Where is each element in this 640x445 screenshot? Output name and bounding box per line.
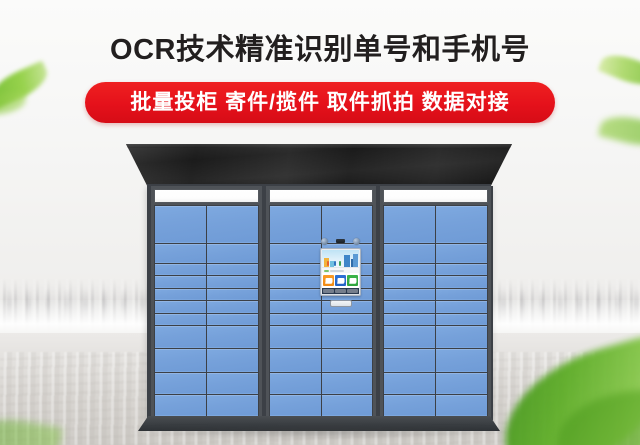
screen-tile-service[interactable] bbox=[347, 275, 358, 286]
footer-segment bbox=[347, 289, 358, 293]
locker-door[interactable] bbox=[270, 373, 321, 394]
locker-door[interactable] bbox=[384, 326, 435, 347]
locker-door[interactable] bbox=[384, 264, 435, 276]
screen-hero-illustration bbox=[322, 250, 359, 267]
footer-segment bbox=[323, 289, 334, 293]
locker-door[interactable] bbox=[384, 373, 435, 394]
cabinet-ground-shadow bbox=[128, 428, 512, 439]
locker-door[interactable] bbox=[384, 395, 435, 416]
parcel-locker-cabinet bbox=[0, 0, 640, 445]
section-header-strip-left bbox=[154, 189, 259, 203]
locker-door[interactable] bbox=[207, 264, 258, 276]
locker-door[interactable] bbox=[270, 314, 321, 326]
locker-door[interactable] bbox=[384, 276, 435, 288]
illustration-person-2 bbox=[334, 261, 336, 266]
locker-door[interactable] bbox=[155, 206, 206, 243]
locker-door[interactable] bbox=[322, 349, 373, 372]
status-indicator-icon bbox=[324, 270, 329, 272]
locker-door[interactable] bbox=[155, 301, 206, 313]
locker-door[interactable] bbox=[270, 349, 321, 372]
locker-door[interactable] bbox=[207, 244, 258, 263]
locker-door[interactable] bbox=[384, 289, 435, 301]
illustration-building-3 bbox=[344, 255, 350, 267]
locker-door[interactable] bbox=[384, 206, 435, 243]
illustration-building-5 bbox=[353, 254, 358, 267]
canopy-front-lip bbox=[126, 144, 512, 148]
illustration-person-3 bbox=[339, 261, 341, 266]
locker-door[interactable] bbox=[436, 206, 487, 243]
locker-door[interactable] bbox=[436, 301, 487, 313]
locker-door[interactable] bbox=[322, 314, 373, 326]
locker-door[interactable] bbox=[270, 289, 321, 301]
pickup-tile-label bbox=[337, 282, 344, 284]
screen-tile-deposit[interactable] bbox=[323, 275, 334, 286]
locker-door[interactable] bbox=[436, 276, 487, 288]
footer-segment bbox=[335, 289, 346, 293]
locker-door[interactable] bbox=[270, 206, 321, 243]
locker-door[interactable] bbox=[155, 349, 206, 372]
promo-scene: OCR技术精准识别单号和手机号 批量投柜 寄件/揽件 取件抓拍 数据对接 bbox=[0, 0, 640, 445]
locker-door[interactable] bbox=[207, 349, 258, 372]
screen-tile-pickup[interactable] bbox=[335, 275, 346, 286]
locker-door[interactable] bbox=[207, 373, 258, 394]
locker-door[interactable] bbox=[155, 264, 206, 276]
locker-door[interactable] bbox=[384, 301, 435, 313]
locker-door[interactable] bbox=[436, 314, 487, 326]
locker-door[interactable] bbox=[384, 349, 435, 372]
locker-door[interactable] bbox=[436, 395, 487, 416]
locker-door[interactable] bbox=[207, 289, 258, 301]
locker-door[interactable] bbox=[155, 314, 206, 326]
section-header-strip-middle bbox=[269, 189, 373, 203]
locker-door[interactable] bbox=[155, 373, 206, 394]
door-grid-right bbox=[383, 205, 488, 417]
locker-door[interactable] bbox=[436, 244, 487, 263]
locker-door[interactable] bbox=[155, 326, 206, 347]
locker-door[interactable] bbox=[155, 289, 206, 301]
cabinet-canopy bbox=[126, 144, 512, 186]
kiosk-terminal[interactable] bbox=[318, 237, 363, 311]
camera-lens-icon-right bbox=[353, 238, 360, 245]
locker-door[interactable] bbox=[384, 244, 435, 263]
locker-door[interactable] bbox=[384, 314, 435, 326]
card-scan-slot-icon[interactable] bbox=[330, 300, 352, 307]
locker-door[interactable] bbox=[436, 326, 487, 347]
section-header-strip-right bbox=[383, 189, 488, 203]
locker-door[interactable] bbox=[436, 349, 487, 372]
locker-door[interactable] bbox=[207, 314, 258, 326]
locker-door[interactable] bbox=[207, 301, 258, 313]
ir-sensor-icon bbox=[336, 239, 345, 243]
locker-door[interactable] bbox=[155, 395, 206, 416]
locker-door[interactable] bbox=[322, 395, 373, 416]
screen-footer-bar bbox=[322, 288, 359, 294]
locker-section-right bbox=[378, 186, 493, 420]
kiosk-screen-frame[interactable] bbox=[320, 248, 361, 296]
locker-door[interactable] bbox=[155, 276, 206, 288]
locker-door[interactable] bbox=[436, 289, 487, 301]
locker-door[interactable] bbox=[436, 373, 487, 394]
locker-door[interactable] bbox=[155, 244, 206, 263]
locker-door[interactable] bbox=[207, 276, 258, 288]
locker-door[interactable] bbox=[322, 373, 373, 394]
locker-door[interactable] bbox=[207, 206, 258, 243]
screen-action-tiles[interactable] bbox=[322, 273, 359, 288]
locker-door[interactable] bbox=[270, 244, 321, 263]
locker-door[interactable] bbox=[436, 264, 487, 276]
door-grid-left bbox=[154, 205, 259, 417]
kiosk-screen[interactable] bbox=[322, 250, 359, 294]
locker-door[interactable] bbox=[322, 326, 373, 347]
deposit-tile-label bbox=[325, 282, 332, 284]
locker-section-left bbox=[149, 186, 264, 420]
locker-door[interactable] bbox=[270, 264, 321, 276]
locker-door[interactable] bbox=[270, 276, 321, 288]
locker-door[interactable] bbox=[270, 301, 321, 313]
locker-door[interactable] bbox=[270, 326, 321, 347]
illustration-person-1 bbox=[327, 261, 329, 266]
service-tile-label bbox=[349, 282, 356, 284]
status-text-placeholder bbox=[330, 270, 344, 272]
locker-door[interactable] bbox=[207, 395, 258, 416]
camera-lens-icon-left bbox=[321, 238, 328, 245]
locker-door[interactable] bbox=[207, 326, 258, 347]
kiosk-sensor-row bbox=[321, 237, 360, 245]
locker-door[interactable] bbox=[270, 395, 321, 416]
